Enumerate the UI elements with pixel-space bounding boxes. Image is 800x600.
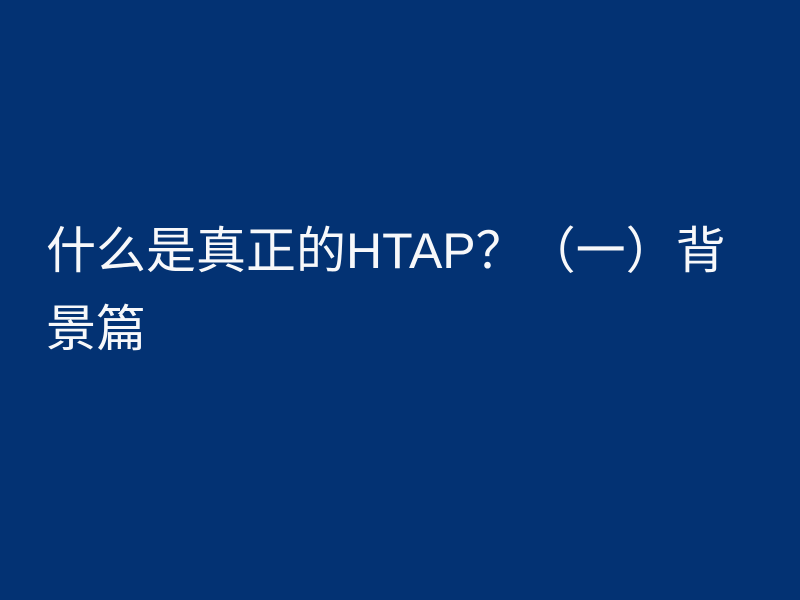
page-title: 什么是真正的HTAP？（一）背景篇 bbox=[46, 212, 758, 368]
title-card-canvas: 什么是真正的HTAP？（一）背景篇 bbox=[0, 0, 800, 600]
title-block: 什么是真正的HTAP？（一）背景篇 bbox=[46, 212, 758, 368]
